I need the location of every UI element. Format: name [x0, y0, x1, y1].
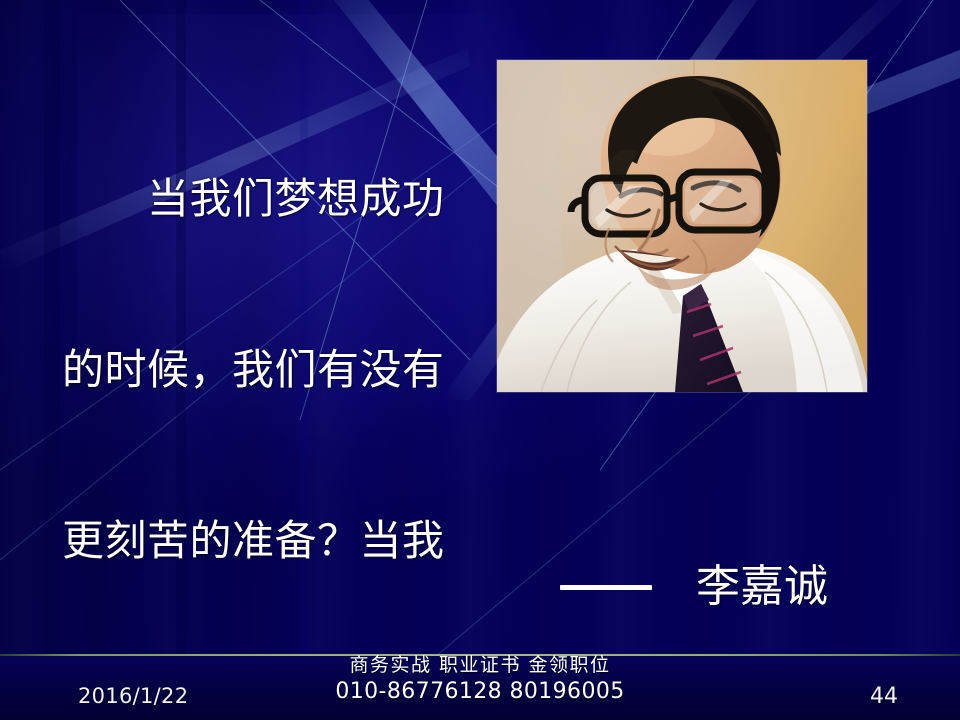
- quote-line-2: 的时候，我们有没有: [62, 341, 494, 398]
- quote-line-3: 更刻苦的准备？当我: [62, 512, 494, 569]
- footer-tagline: 商务实战 职业证书 金领职位: [0, 652, 960, 678]
- quote-text: 当我们梦想成功 的时候，我们有没有 更刻苦的准备？当我 们梦想成为领袖的时 候，…: [62, 56, 902, 720]
- footer-date: 2016/1/22: [78, 684, 188, 708]
- attribution-author: 李嘉诚: [696, 558, 828, 616]
- quote-line-1: 当我们梦想成功: [62, 170, 494, 227]
- attribution-dash: [560, 585, 652, 590]
- footer-page-number: 44: [870, 684, 898, 709]
- slide-canvas: 当我们梦想成功 的时候，我们有没有 更刻苦的准备？当我 们梦想成为领袖的时 候，…: [0, 0, 960, 720]
- quote-attribution: 李嘉诚: [560, 558, 900, 616]
